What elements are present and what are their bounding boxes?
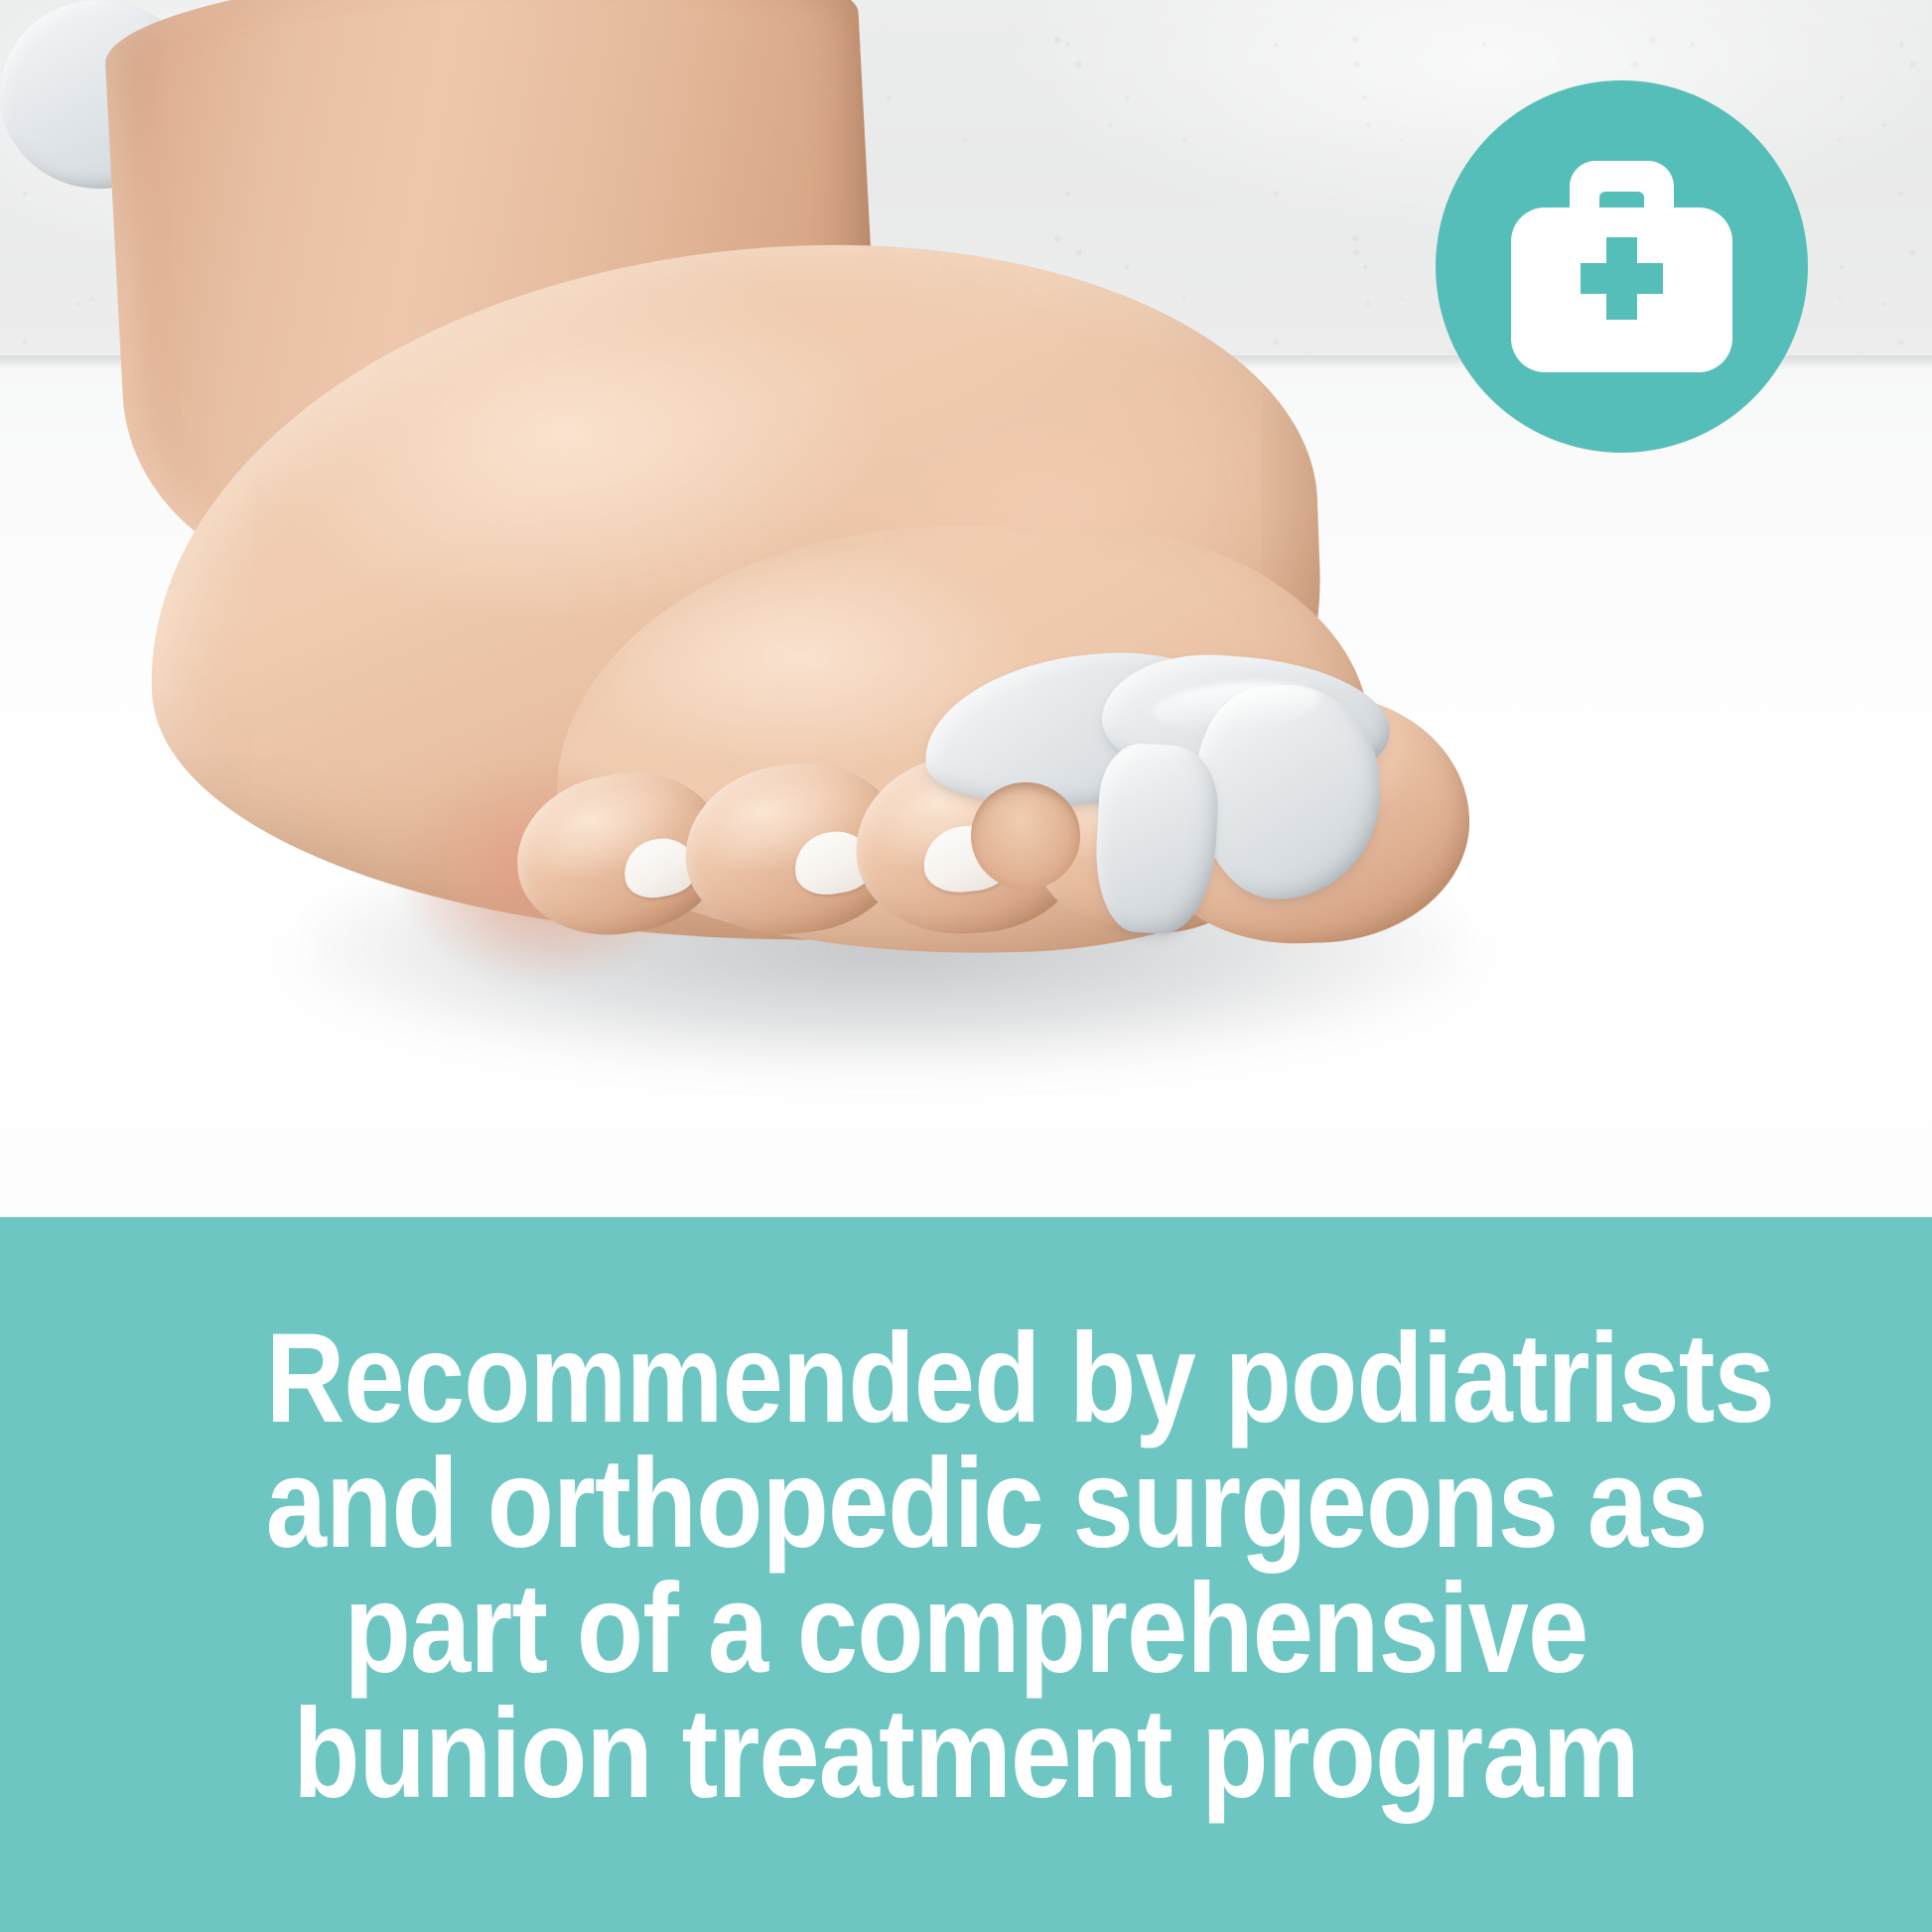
product-photo: [0, 0, 1932, 1217]
headline-line-1: Recommended by podiatrists: [266, 1316, 1666, 1442]
headline-line-2: and orthopedic surgeons as: [266, 1442, 1666, 1567]
headline-banner: Recommended by podiatrists and orthopedi…: [0, 1217, 1932, 1932]
headline-line-4: bunion treatment program: [266, 1692, 1666, 1817]
gel-toe-separator-loop-opening: [971, 782, 1080, 890]
headline-line-3: part of a comprehensive: [266, 1567, 1666, 1692]
medical-bag-icon: [1436, 80, 1808, 453]
headline-text: Recommended by podiatrists and orthopedi…: [152, 1316, 1780, 1817]
product-image-canvas: Recommended by podiatrists and orthopedi…: [0, 0, 1932, 1932]
medical-bag-badge: [1436, 80, 1808, 453]
